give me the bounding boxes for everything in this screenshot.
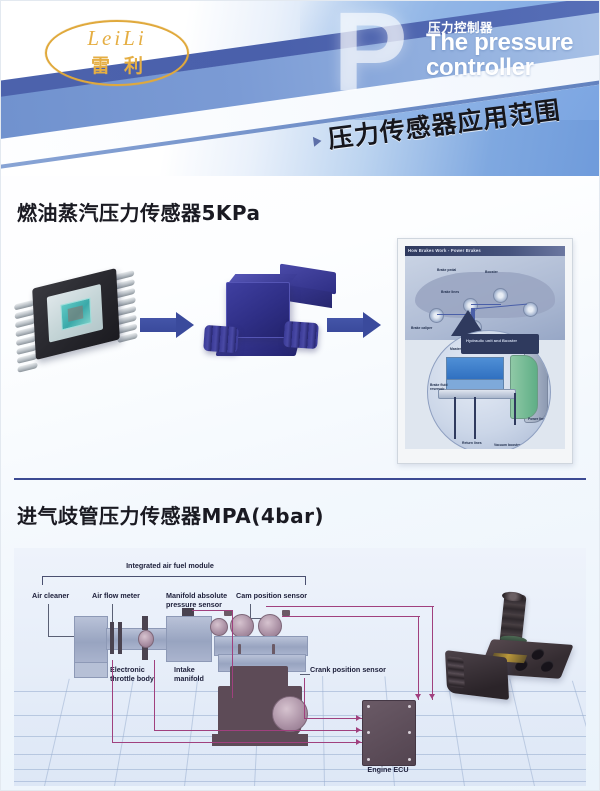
brake-diagram-header-text: How Brakes Work - Power Brakes — [408, 248, 481, 253]
crank-wheel — [272, 696, 308, 732]
detail-label-vacuum-booster: Vacuum booster — [494, 443, 520, 447]
brake-label-booster: Booster — [485, 270, 498, 274]
brake-label-pedal: Brake pedal — [437, 268, 456, 272]
detail-label-reservoir: Brake fluid reservoir — [430, 383, 456, 392]
brochure-page: LeiLi 雷利 P 压力控制器 The pressure controller… — [0, 0, 600, 791]
engine-label-ecu: Engine ECU — [362, 766, 414, 775]
wire-cam-down — [432, 606, 433, 700]
module-bracket — [42, 576, 306, 585]
header-title-en: The pressure controller — [426, 30, 600, 81]
engine-label-map-sensor: Manifold absolute pressure sensor — [166, 592, 244, 610]
section-title-intake-manifold: 进气歧管压力传感器MPA(4bar) — [17, 500, 324, 529]
wire-arrow-3 — [356, 739, 361, 745]
page-header: LeiLi 雷利 P 压力控制器 The pressure controller — [0, 0, 600, 176]
map-sensor-connector — [445, 650, 509, 700]
engine-label-intake-manifold: Intake manifold — [174, 666, 224, 684]
wire-afm — [112, 660, 113, 742]
wire-map-top — [192, 610, 232, 611]
brake-system-diagram-card: How Brakes Work - Power Brakes Brake ped… — [397, 238, 573, 464]
wire-afm-run — [112, 742, 362, 743]
section-1-content: How Brakes Work - Power Brakes Brake ped… — [0, 236, 600, 466]
section-divider — [14, 478, 586, 480]
section-title-fuel-vapor: 燃油蒸汽压力传感器5KPa — [17, 197, 261, 226]
arrow-right-icon-2 — [327, 312, 381, 338]
brake-diagram-header-bar: How Brakes Work - Power Brakes — [405, 246, 565, 256]
wire-cam2-top — [282, 616, 420, 617]
cylinder-head — [214, 636, 308, 656]
oil-pan — [212, 734, 308, 746]
engine-label-air-flow-meter: Air flow meter — [92, 592, 140, 601]
manifold-plenum — [166, 616, 212, 662]
wire-arrow-2 — [356, 727, 361, 733]
air-cleaner-base — [74, 662, 108, 678]
brake-diagram-image: How Brakes Work - Power Brakes Brake ped… — [405, 246, 565, 449]
hydraulic-callout-tag: Hydraulic unit and Booster — [461, 334, 539, 354]
wire-cam2-down — [418, 616, 419, 700]
chip-body — [32, 268, 120, 360]
fuel-vapor-sensor-render — [196, 260, 332, 380]
wire-throttle-run — [154, 730, 362, 731]
wire-map-down — [232, 610, 233, 698]
triangle-bullet-icon — [313, 136, 322, 147]
engine-label-cam-position-sensor: Cam position sensor — [236, 592, 307, 601]
throttle-plate — [138, 630, 154, 648]
cam-gear-intake — [230, 614, 254, 638]
ghost-letter-p: P — [333, 0, 408, 108]
detail-label-power-line: Power line — [528, 417, 545, 421]
detail-label-return-lines: Return lines — [462, 441, 482, 445]
car-wheel-rear — [429, 308, 444, 323]
engine-ecu-box — [362, 700, 416, 766]
brake-node-pedal — [493, 288, 508, 303]
chip-window — [47, 284, 103, 343]
air-cleaner-box — [74, 616, 108, 664]
wire-arrow-4 — [415, 694, 421, 699]
engine-label-air-cleaner: Air cleaner — [32, 592, 69, 601]
pressure-sensor-chip-photo — [20, 270, 132, 362]
sensor-port-right — [283, 321, 319, 349]
company-logo[interactable]: LeiLi 雷利 — [45, 20, 189, 86]
duct-flange-2 — [118, 622, 122, 654]
chip-die — [60, 297, 91, 330]
logo-text-en: LeiLi — [45, 26, 189, 51]
sensor-port-left — [203, 325, 239, 353]
wire-throttle — [154, 660, 155, 730]
duct-flange-1 — [110, 622, 114, 654]
fluid-reservoir — [446, 357, 504, 381]
hydraulic-callout-text: Hydraulic unit and Booster — [466, 338, 517, 343]
throttle-lower — [142, 646, 148, 660]
wire-arrow-5 — [429, 694, 435, 699]
section-2-content: Integrated air fuel module Air cleaner A… — [14, 548, 586, 786]
wire-arrow-1 — [356, 715, 361, 721]
engine-label-crank-position-sensor: Crank position sensor — [310, 666, 386, 675]
manifold-ball — [210, 618, 228, 636]
map-sensor-photo — [446, 594, 574, 706]
wire-crank-run — [304, 718, 362, 719]
engine-label-module: Integrated air fuel module — [80, 562, 260, 571]
throttle-upper — [142, 616, 148, 630]
brake-label-caliper: Brake caliper — [411, 326, 432, 330]
logo-text-cn: 雷利 — [45, 51, 189, 78]
engine-label-throttle-body: Electronic throttle body — [110, 666, 170, 684]
brake-label-lines: Brake lines — [441, 290, 459, 294]
wire-crank — [304, 678, 305, 718]
arrow-right-icon-1 — [140, 312, 194, 338]
cam-gear-exhaust — [258, 614, 282, 638]
wire-cam-top — [266, 606, 434, 607]
